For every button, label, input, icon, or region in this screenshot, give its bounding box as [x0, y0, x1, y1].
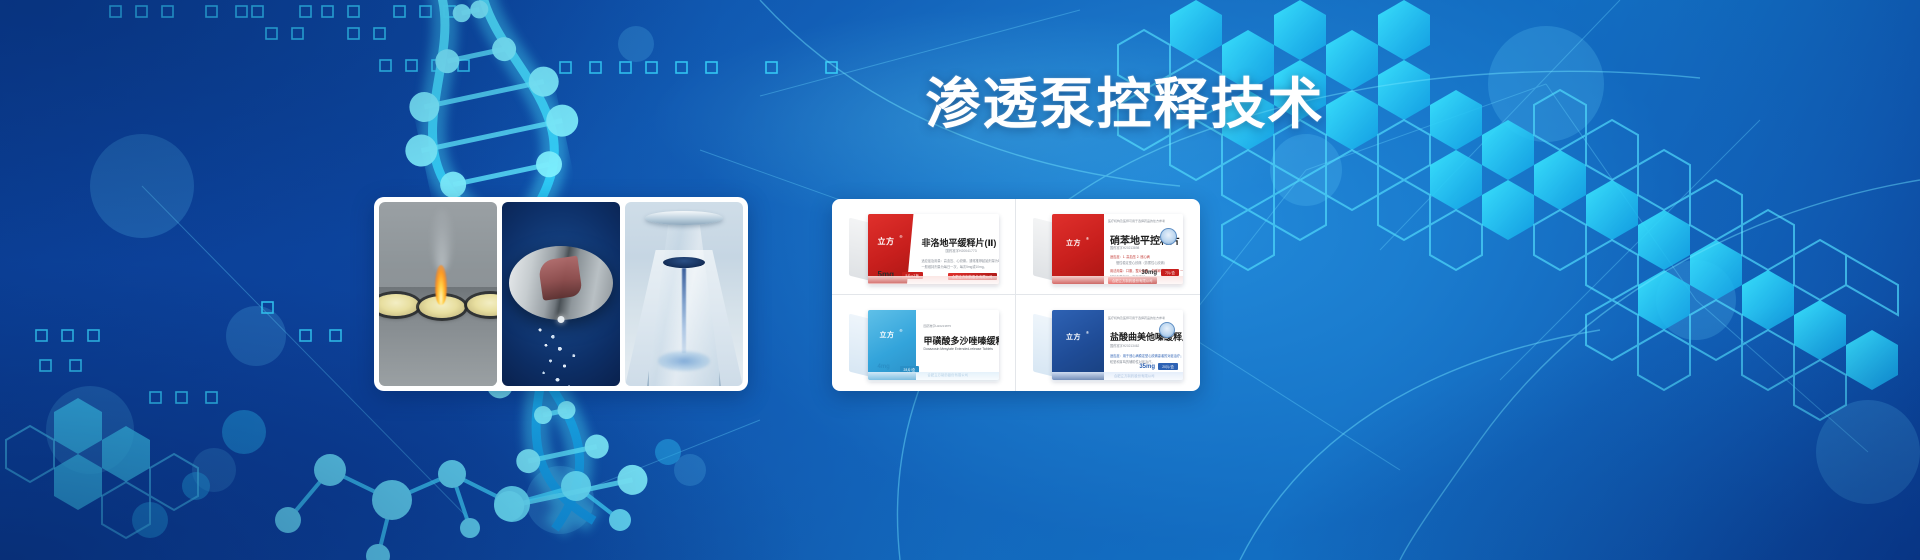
osmotic-pump-technology-banner: 渗透泵控释技术 [0, 0, 1920, 560]
photo-dye-disc [663, 257, 705, 268]
product-brand-mark: ® [1086, 330, 1089, 335]
product-box-trimetazidine: 医疗机构及医师可用于选择药品的处方参考 立方 ® 盐酸曲美他嗪缓释片 国药准字H… [1033, 310, 1183, 376]
product-desc-line2: 一般维持剂量为每日一次，每次5mg或10mg。 [922, 264, 987, 269]
carton-color-block [1052, 310, 1104, 380]
product-box-felodipine: 立方 ® 非洛地平缓释片(Ⅱ) 国药准字H20041773 适应症及用量：高血压… [849, 214, 999, 280]
photo-flask-rim [645, 211, 723, 225]
product-dose: 4mg [878, 364, 890, 370]
photo-dye-pool [658, 351, 710, 371]
product-brand-mark: ® [900, 328, 903, 333]
carton-bottom-fade [1052, 276, 1183, 286]
product-approval: 国药准字H20041773 [946, 248, 977, 253]
product-name-cn: 甲磺酸多沙唑嗪缓释片 [924, 334, 999, 347]
photo-burning-tablets [379, 202, 497, 386]
product-cell-trimetazidine[interactable]: 医疗机构及医师可用于选择药品的处方参考 立方 ® 盐酸曲美他嗪缓释片 国药准字H… [1016, 295, 1200, 391]
product-brand: 立方 [1066, 332, 1081, 342]
carton-side-panel [849, 217, 869, 280]
title-glow [650, 10, 1330, 230]
carton-color-block [1052, 214, 1104, 284]
carton-front-face: 医疗机构及医师可用于选择药品的处方参考 立方 ® 盐酸曲美他嗪缓释片 国药准字H… [1052, 310, 1183, 380]
product-cell-nifedipine[interactable]: 医疗机构及医师可用于选择药品的处方参考 立方 ® 硝苯地平控释片 国药准字H20… [1016, 199, 1200, 295]
photo-drug-particles [533, 323, 591, 386]
quality-seal-icon [1160, 228, 1177, 245]
photo-cut-tablet-release [502, 202, 620, 386]
product-top-note: 医疗机构及医师可用于选择药品的处方参考 [1108, 219, 1165, 223]
carton-front-face: 立方 ® 非洛地平缓释片(Ⅱ) 国药准字H20041773 适应症及用量：高血压… [868, 214, 999, 284]
product-pack: 7片/盒 [1161, 269, 1179, 276]
product-box-doxazosin: 立方 ® 国药准字H20213875 甲磺酸多沙唑嗪缓释片 Doxazosin … [849, 310, 999, 376]
carton-side-panel [849, 314, 869, 377]
photo-flame [435, 265, 447, 305]
photo-tablet-core [538, 256, 583, 301]
product-brand-mark: ® [1086, 236, 1089, 241]
product-pack: 20片/盒 [1158, 363, 1178, 370]
carton-side-panel [1033, 314, 1053, 377]
product-showcase-panel: 立方 ® 非洛地平缓释片(Ⅱ) 国药准字H20041773 适应症及用量：高血压… [832, 199, 1200, 391]
carton-front-face: 医疗机构及医师可用于选择药品的处方参考 立方 ® 硝苯地平控释片 国药准字H20… [1052, 214, 1183, 284]
photo-tablet-body [509, 246, 613, 320]
product-brand: 立方 [1066, 238, 1081, 248]
carton-side-panel [1033, 217, 1053, 280]
product-approval: 国药准字H20213898 [1110, 245, 1139, 250]
product-approval: 国药准字H20213462 [1110, 343, 1139, 348]
photo-laser-orifice [558, 316, 565, 323]
product-top-note: 医疗机构及医师可用于选择药品的处方参考 [1108, 316, 1165, 320]
product-brand: 立方 [880, 330, 895, 340]
photo-smoke [431, 209, 453, 271]
product-name-en: Doxazosin Mesylate Extended-release Tabl… [924, 347, 993, 351]
product-desc-line2: 慢性稳定型心绞痛（劳累性心绞痛） [1116, 260, 1167, 265]
carton-bottom-fade [1052, 372, 1183, 382]
product-cell-felodipine[interactable]: 立方 ® 非洛地平缓释片(Ⅱ) 国药准字H20041773 适应症及用量：高血压… [832, 199, 1016, 295]
product-desc-line1: 适应症及用量：高血压、心绞痛。通常推荐起始剂量为每日一次，每次5mg， [922, 258, 999, 263]
carton-bottom-fade [868, 276, 999, 286]
product-approval: 国药准字H20213875 [924, 324, 952, 328]
carton-bottom-fade [868, 372, 999, 382]
product-dose: 30mg [1141, 270, 1157, 276]
photo-dye-trail [682, 268, 686, 353]
product-desc-line1: 适应症：1. 高血压 2. 冠心病 [1110, 254, 1150, 259]
process-photo-panel [374, 197, 748, 391]
product-brand: 立方 [878, 236, 895, 247]
photo-dissolution-flask [625, 202, 743, 386]
product-dose: 35mg [1139, 364, 1155, 370]
product-desc-line1: 适应症：用于冠心病稳定型心绞痛患者的对症治疗； [1110, 353, 1183, 358]
product-cell-doxazosin[interactable]: 立方 ® 国药准字H20213875 甲磺酸多沙唑嗪缓释片 Doxazosin … [832, 295, 1016, 391]
quality-seal-icon [1159, 322, 1175, 338]
product-box-nifedipine: 医疗机构及医师可用于选择药品的处方参考 立方 ® 硝苯地平控释片 国药准字H20… [1033, 214, 1183, 280]
product-brand-mark: ® [900, 234, 903, 239]
carton-front-face: 立方 ® 国药准字H20213875 甲磺酸多沙唑嗪缓释片 Doxazosin … [868, 310, 999, 380]
